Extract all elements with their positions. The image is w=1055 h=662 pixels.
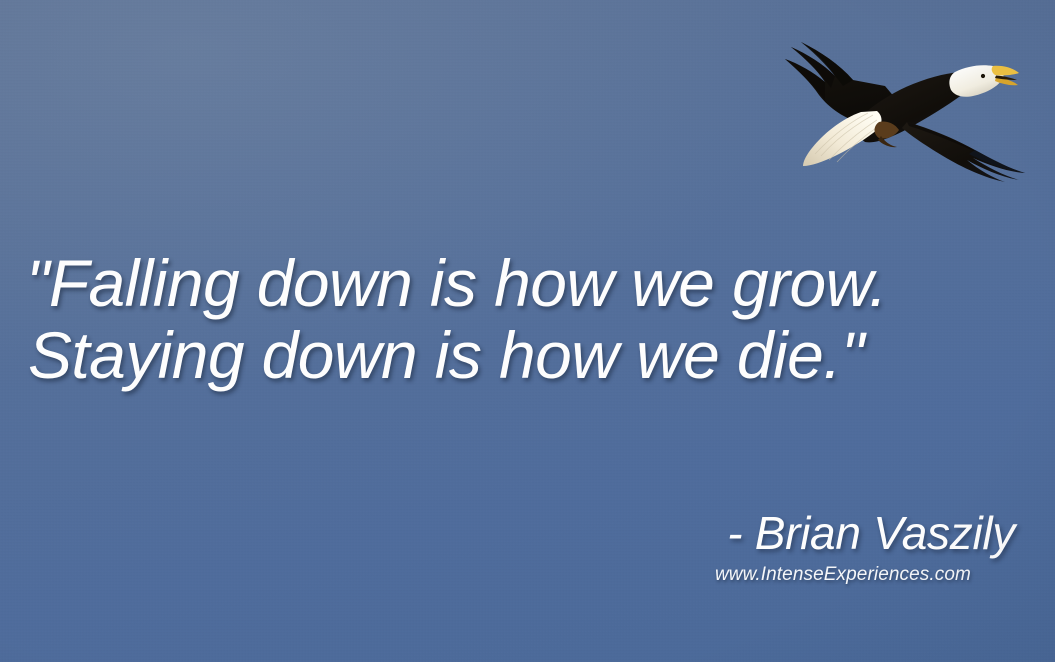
quote-block: "Falling down is how we grow. Staying do…	[26, 247, 1031, 391]
eagle-eye	[981, 74, 985, 78]
quote-line-1: "Falling down is how we grow.	[26, 247, 1031, 319]
bald-eagle-in-flight	[757, 16, 1049, 182]
website-url: www.IntenseExperiences.com	[715, 564, 971, 586]
quote-author-attribution: - Brian Vaszily	[727, 506, 1015, 560]
quote-line-2: Staying down is how we die."	[28, 319, 1031, 391]
eagle-right-wing	[902, 122, 1025, 182]
quote-image-canvas: "Falling down is how we grow. Staying do…	[0, 0, 1055, 662]
